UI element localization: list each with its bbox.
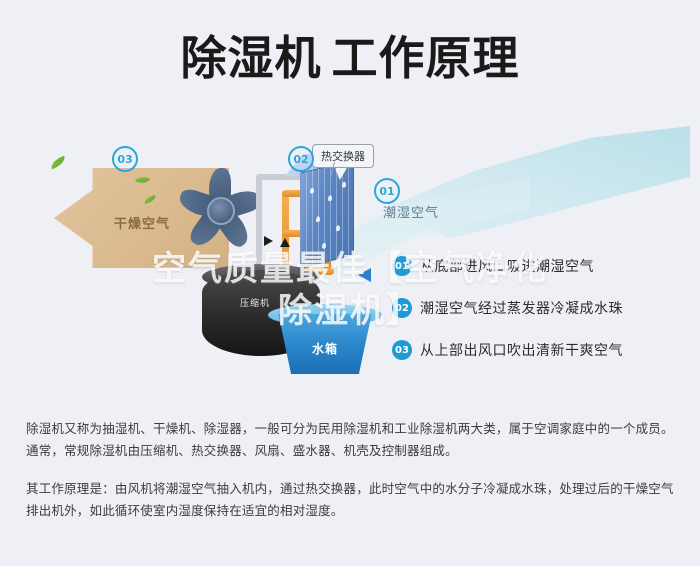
page-title: 除湿机工作原理: [0, 28, 700, 88]
leaf-icon: [49, 156, 67, 170]
list-item: 02 潮湿空气经过蒸发器冷凝成水珠: [392, 298, 662, 318]
diagram-badge-02: 02: [288, 146, 314, 172]
water-tank-label: 水箱: [312, 340, 338, 357]
humid-air-label: 潮湿空气: [383, 202, 439, 221]
paragraph-1: 除湿机又称为抽湿机、干燥机、除湿器，一般可分为民用除湿机和工业除湿机两大类，属于…: [26, 418, 676, 462]
diagram-badge-02-label: 02: [293, 153, 308, 166]
step-text: 从底部进风口吸进潮湿空气: [420, 256, 594, 276]
paragraph-2: 其工作原理是：由风机将潮湿空气抽入机内，通过热交换器，此时空气中的水分子冷凝成水…: [26, 478, 676, 522]
dry-air-label: 干燥空气: [114, 213, 170, 232]
compressor-label: 压缩机: [240, 296, 270, 309]
step-number-badge: 01: [392, 256, 412, 276]
step-number-badge: 02: [392, 298, 412, 318]
step-text: 从上部出风口吹出清新干爽空气: [420, 340, 623, 360]
dehumidifier-diagram: 干燥空气 03: [0, 118, 700, 408]
airflow-arrow-icon: [358, 268, 371, 282]
list-item: 03 从上部出风口吹出清新干爽空气: [392, 340, 662, 360]
diagram-badge-01-label: 01: [379, 185, 394, 198]
heat-exchanger-callout: 热交换器: [312, 144, 374, 168]
list-item: 01 从底部进风口吸进潮湿空气: [392, 256, 662, 276]
body-copy: 除湿机又称为抽湿机、干燥机、除湿器，一般可分为民用除湿机和工业除湿机两大类，属于…: [26, 418, 676, 538]
step-text: 潮湿空气经过蒸发器冷凝成水珠: [420, 298, 623, 318]
diagram-badge-03: 03: [112, 146, 138, 172]
heat-exchanger-block: [300, 159, 354, 268]
diagram-badge-03-label: 03: [117, 153, 132, 166]
title-primary: 除湿机: [181, 31, 322, 85]
step-number-badge: 03: [392, 340, 412, 360]
title-secondary: 工作原理: [332, 31, 520, 85]
heat-exchanger-callout-label: 热交换器: [321, 150, 365, 163]
diagram-badge-01: 01: [374, 178, 400, 204]
fan-icon: [176, 166, 262, 252]
page-root: 除湿机工作原理 干燥空气 03: [0, 0, 700, 566]
steps-list: 01 从底部进风口吸进潮湿空气 02 潮湿空气经过蒸发器冷凝成水珠 03 从上部…: [392, 256, 662, 382]
